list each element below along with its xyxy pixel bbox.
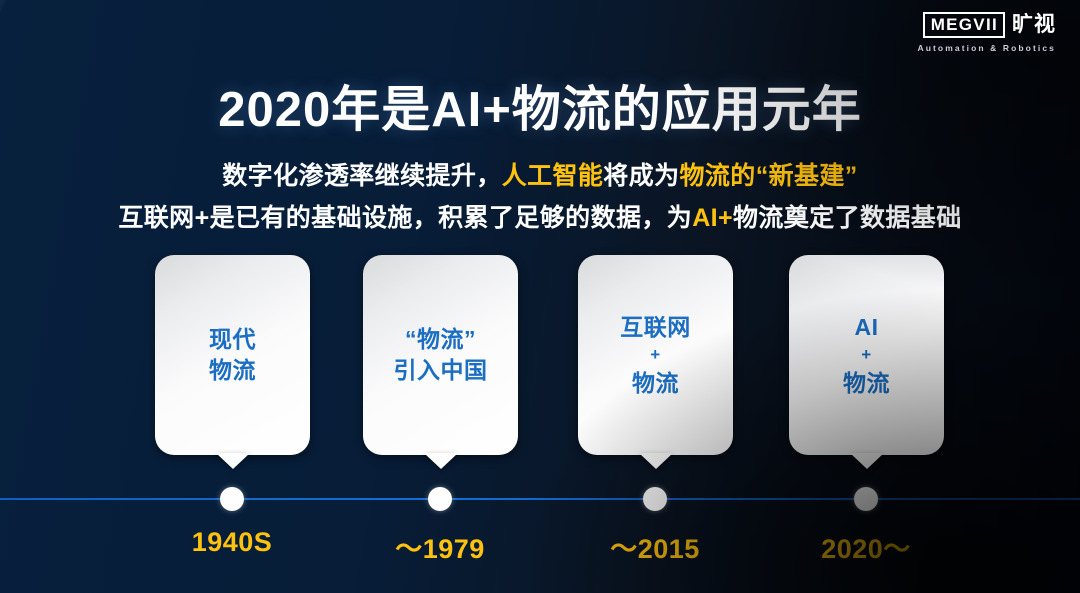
timeline-year-4: 2020～: [786, 527, 946, 566]
card-3-line-1: 互联网: [620, 314, 691, 340]
card-2-line-2: 引入中国: [394, 357, 488, 383]
card-1-line-2: 物流: [209, 357, 256, 383]
timeline-card-1[interactable]: 现代 物流: [155, 255, 310, 455]
logo-tagline: Automation & Robotics: [917, 43, 1056, 53]
subtitle-1-seg-2: 人工智能: [502, 162, 604, 190]
timeline-dot-3[interactable]: [643, 487, 667, 511]
subtitle-1-seg-1: 数字化渗透率继续提升，: [222, 162, 501, 190]
card-3-plus-icon: +: [620, 342, 691, 368]
card-4-line-3: 物流: [843, 370, 890, 396]
card-1-line-1: 现代: [209, 326, 256, 352]
timeline-card-4[interactable]: AI + 物流: [789, 255, 944, 455]
megvii-chinese-name: 旷视: [1012, 14, 1056, 35]
timeline-cards: 现代 物流 “物流” 引入中国 互联网 + 物流 AI + 物流: [0, 255, 1080, 470]
megvii-wordmark: MEGVII: [923, 12, 1005, 38]
timeline-dot-4[interactable]: [854, 487, 878, 511]
subtitle-2-seg-3: 物流奠定了数据基础: [733, 204, 962, 232]
timeline-card-2-text: “物流” 引入中国: [394, 324, 488, 385]
card-4-plus-icon: +: [843, 342, 890, 368]
card-3-pointer-icon: [639, 453, 673, 469]
slide-canvas: MEGVII 旷视 Automation & Robotics 2020年是AI…: [0, 0, 1080, 593]
timeline-year-1: 1940S: [152, 527, 312, 558]
card-4-pointer-icon: [850, 453, 884, 469]
slide-title: 2020年是AI+物流的应用元年: [0, 70, 1080, 141]
timeline-year-2: ～1979: [360, 527, 520, 566]
timeline-axis: [0, 498, 1080, 500]
timeline-card-1-text: 现代 物流: [209, 324, 256, 385]
brand-logo: MEGVII 旷视 Automation & Robotics: [917, 12, 1056, 53]
timeline-card-4-text: AI + 物流: [843, 312, 890, 399]
card-4-line-1: AI: [855, 314, 879, 340]
timeline-card-3-text: 互联网 + 物流: [620, 312, 691, 399]
subtitle-line-1: 数字化渗透率继续提升，人工智能将成为物流的“新基建”: [0, 156, 1080, 192]
timeline-card-2[interactable]: “物流” 引入中国: [363, 255, 518, 455]
card-2-line-1: “物流”: [405, 326, 476, 352]
logo-row: MEGVII 旷视: [917, 12, 1056, 38]
timeline-dot-1[interactable]: [220, 487, 244, 511]
subtitle-2-seg-1: 互联网+是已有的基础设施，积累了足够的数据，为: [118, 204, 692, 232]
timeline-dot-2[interactable]: [428, 487, 452, 511]
subtitle-line-2: 互联网+是已有的基础设施，积累了足够的数据，为AI+物流奠定了数据基础: [0, 198, 1080, 234]
timeline-year-3: ～2015: [575, 527, 735, 566]
subtitle-2-seg-2: AI+: [692, 204, 733, 232]
subtitle-1-seg-4: 物流的“新基建”: [680, 162, 858, 190]
card-3-line-3: 物流: [632, 370, 679, 396]
subtitle-1-seg-3: 将成为: [603, 162, 679, 190]
card-2-pointer-icon: [424, 453, 458, 469]
timeline-card-3[interactable]: 互联网 + 物流: [578, 255, 733, 455]
card-1-pointer-icon: [216, 453, 250, 469]
